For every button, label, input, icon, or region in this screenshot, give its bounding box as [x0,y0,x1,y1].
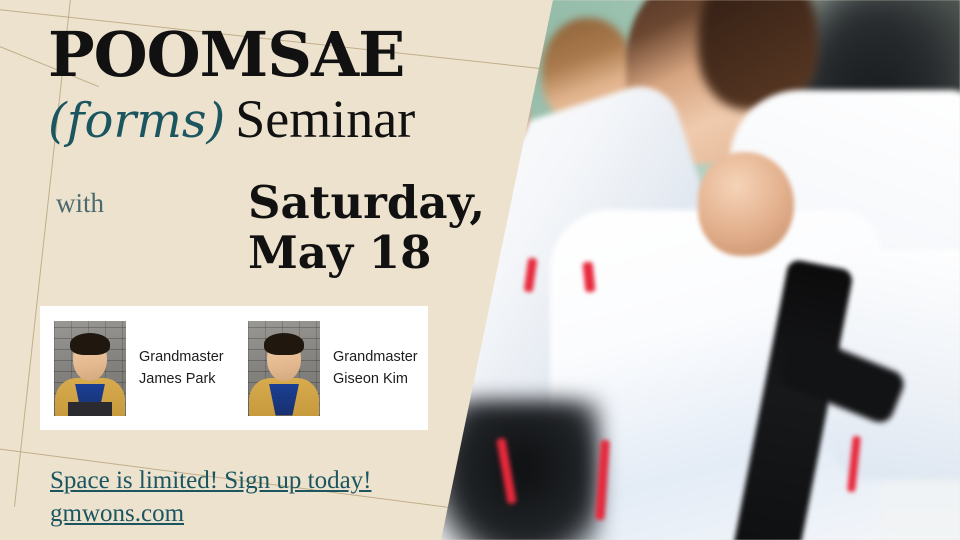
presenter-name-block: Grandmaster James Park [139,346,224,391]
avatar-hair [264,333,304,355]
cta-website-link[interactable]: gmwons.com [50,497,184,530]
presenter-name-block: Grandmaster Giseon Kim [333,346,418,391]
event-date-line-2: May 18 [248,228,485,278]
presenter-title: Grandmaster [333,346,418,368]
cta-line-signup[interactable]: Space is limited! Sign up today! [50,464,371,497]
avatar [248,321,320,416]
avatar [54,321,126,416]
poster-canvas: POOMSAE (forms)Seminar with Saturday, Ma… [0,0,960,540]
event-date-line-1: Saturday, [248,178,485,228]
headline-block: POOMSAE (forms)Seminar [48,24,518,146]
presenter-item: Grandmaster Giseon Kim [234,321,428,416]
presenters-card: Grandmaster James Park Grandmaster Giseo… [40,306,428,430]
avatar-hair [70,333,110,355]
subtitle-row: (forms)Seminar [48,92,518,146]
presenter-full-name: James Park [139,368,224,390]
avatar-plaque [68,402,112,416]
subtitle-parenthetical: (forms) [48,93,225,149]
page-title: POOMSAE [48,24,518,86]
connector-label: with [56,188,104,219]
cta-block[interactable]: Space is limited! Sign up today! gmwons.… [50,464,371,530]
presenter-full-name: Giseon Kim [333,368,418,390]
presenter-item: Grandmaster James Park [40,321,234,416]
event-date: Saturday, May 18 [248,178,485,279]
photo-fist-right [698,152,794,256]
presenter-title: Grandmaster [139,346,224,368]
subtitle-word: Seminar [235,89,415,149]
